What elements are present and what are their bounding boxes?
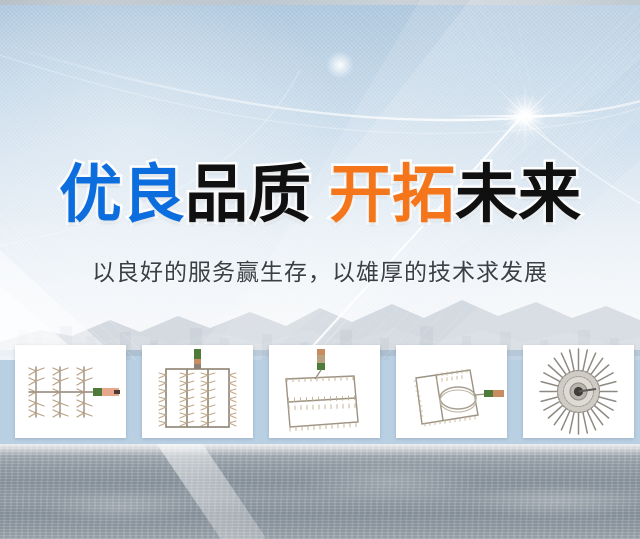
subtitle: 以良好的服务赢生存，以雄厚的技术求发展 bbox=[0, 258, 640, 288]
sky-top-band bbox=[0, 0, 640, 5]
product-card-row bbox=[15, 345, 627, 440]
headline: 优良品质开拓未来 bbox=[0, 164, 640, 227]
headline-segment-2: 品质 bbox=[185, 160, 311, 230]
headline-segment-3: 开拓 bbox=[329, 160, 455, 230]
ground-blotch bbox=[470, 484, 640, 520]
ground-blotch bbox=[300, 462, 480, 502]
concrete-ground bbox=[0, 444, 640, 539]
headline-segment-4: 未来 bbox=[455, 160, 581, 230]
radial-sunburst-rack-icon bbox=[523, 345, 634, 438]
product-card[interactable] bbox=[396, 345, 507, 438]
ground-highlight bbox=[0, 444, 640, 456]
comb-rack-icon bbox=[142, 345, 253, 438]
ground-blotch bbox=[40, 490, 200, 524]
rectangular-frame-rack-icon bbox=[269, 345, 380, 438]
hero-banner: 优良品质开拓未来 以良好的服务赢生存，以雄厚的技术求发展 bbox=[0, 0, 640, 539]
flare-core bbox=[326, 51, 354, 79]
square-ring-rack-icon bbox=[396, 345, 507, 438]
product-card[interactable] bbox=[269, 345, 380, 438]
product-card[interactable] bbox=[15, 345, 126, 438]
headline-segment-1: 优良 bbox=[59, 160, 185, 230]
product-card[interactable] bbox=[523, 345, 634, 438]
branched-hanging-rack-icon bbox=[15, 345, 126, 438]
product-card[interactable] bbox=[142, 345, 253, 438]
